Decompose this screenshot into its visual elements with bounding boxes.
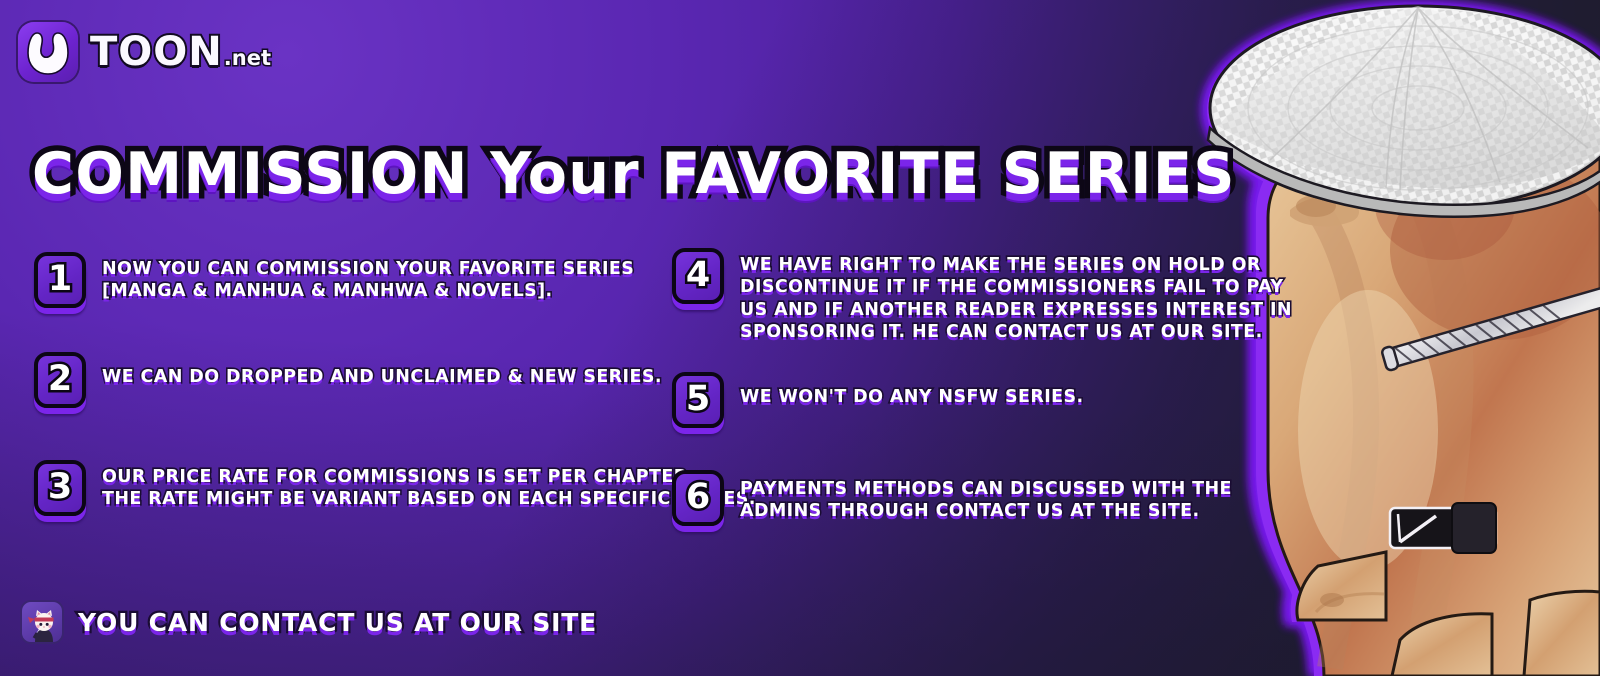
logo-wordmark: TOON .net [90, 32, 271, 72]
list-item: 3 OUR PRICE RATE FOR COMMISSIONS IS SET … [34, 460, 674, 516]
list-item: 2 WE CAN DO DROPPED AND UNCLAIMED & NEW … [34, 352, 674, 408]
item-number: 5 [686, 382, 710, 417]
item-number: 6 [686, 480, 710, 515]
item-number: 4 [686, 258, 710, 293]
item-text-line: [MANGA & MANHUA & MANHWA & NOVELS]. [102, 280, 634, 302]
item-number-badge: 3 [34, 460, 86, 516]
item-number-badge: 1 [34, 252, 86, 308]
item-text: NOW YOU CAN COMMISSION YOUR FAVORITE SER… [102, 252, 634, 303]
item-number: 2 [48, 362, 72, 397]
list-item: 6 PAYMENTS METHODS CAN DISCUSSED WITH TH… [672, 470, 1232, 526]
logo-name: TOON [90, 32, 223, 72]
item-text: WE CAN DO DROPPED AND UNCLAIMED & NEW SE… [102, 352, 662, 388]
terms-column-right: 4 WE HAVE RIGHT TO MAKE THE SERIES ON HO… [672, 248, 1232, 538]
item-text-line: THE RATE MIGHT BE VARIANT BASED ON EACH … [102, 488, 756, 510]
item-number-badge: 6 [672, 470, 724, 526]
item-text: WE HAVE RIGHT TO MAKE THE SERIES ON HOLD… [740, 248, 1292, 344]
item-text: WE WON'T DO ANY NSFW SERIES. [740, 372, 1084, 408]
item-text-line: DISCONTINUE IT IF THE COMMISSIONERS FAIL… [740, 276, 1292, 298]
item-text-line: SPONSORING IT. HE CAN CONTACT US AT OUR … [740, 321, 1292, 343]
item-text-line: OUR PRICE RATE FOR COMMISSIONS IS SET PE… [102, 466, 756, 488]
ninja-cat-mascot-icon [20, 600, 64, 644]
item-text: PAYMENTS METHODS CAN DISCUSSED WITH THE … [740, 470, 1232, 523]
item-text-line: ADMINS THROUGH CONTACT US AT THE SITE. [740, 500, 1232, 522]
item-number: 1 [48, 262, 72, 297]
contact-footer[interactable]: YOU CAN CONTACT US AT OUR SITE [20, 600, 597, 644]
item-number-badge: 5 [672, 372, 724, 428]
item-text-line: WE WON'T DO ANY NSFW SERIES. [740, 386, 1084, 408]
site-logo[interactable]: TOON .net [18, 22, 271, 82]
item-number-badge: 4 [672, 248, 724, 304]
list-item: 1 NOW YOU CAN COMMISSION YOUR FAVORITE S… [34, 252, 674, 308]
item-number-badge: 2 [34, 352, 86, 408]
item-text-line: PAYMENTS METHODS CAN DISCUSSED WITH THE [740, 478, 1232, 500]
list-item: 4 WE HAVE RIGHT TO MAKE THE SERIES ON HO… [672, 248, 1232, 344]
item-text-line: WE HAVE RIGHT TO MAKE THE SERIES ON HOLD… [740, 254, 1292, 276]
item-text: OUR PRICE RATE FOR COMMISSIONS IS SET PE… [102, 460, 756, 511]
item-text-line: US AND IF ANOTHER READER EXPRESSES INTER… [740, 299, 1292, 321]
list-item: 5 WE WON'T DO ANY NSFW SERIES. [672, 372, 1232, 428]
item-text-line: WE CAN DO DROPPED AND UNCLAIMED & NEW SE… [102, 366, 662, 388]
item-text-line: NOW YOU CAN COMMISSION YOUR FAVORITE SER… [102, 258, 634, 280]
page-title: COMMISSION Your FAVORITE SERIES [32, 146, 1236, 203]
contact-text: YOU CAN CONTACT US AT OUR SITE [78, 608, 597, 637]
crescent-moon-icon [18, 22, 78, 82]
promo-banner: TOON .net COMMISSION Your FAVORITE SERIE… [0, 0, 1600, 676]
item-number: 3 [48, 470, 72, 505]
terms-column-left: 1 NOW YOU CAN COMMISSION YOUR FAVORITE S… [34, 252, 674, 516]
logo-tld: .net [224, 48, 271, 69]
